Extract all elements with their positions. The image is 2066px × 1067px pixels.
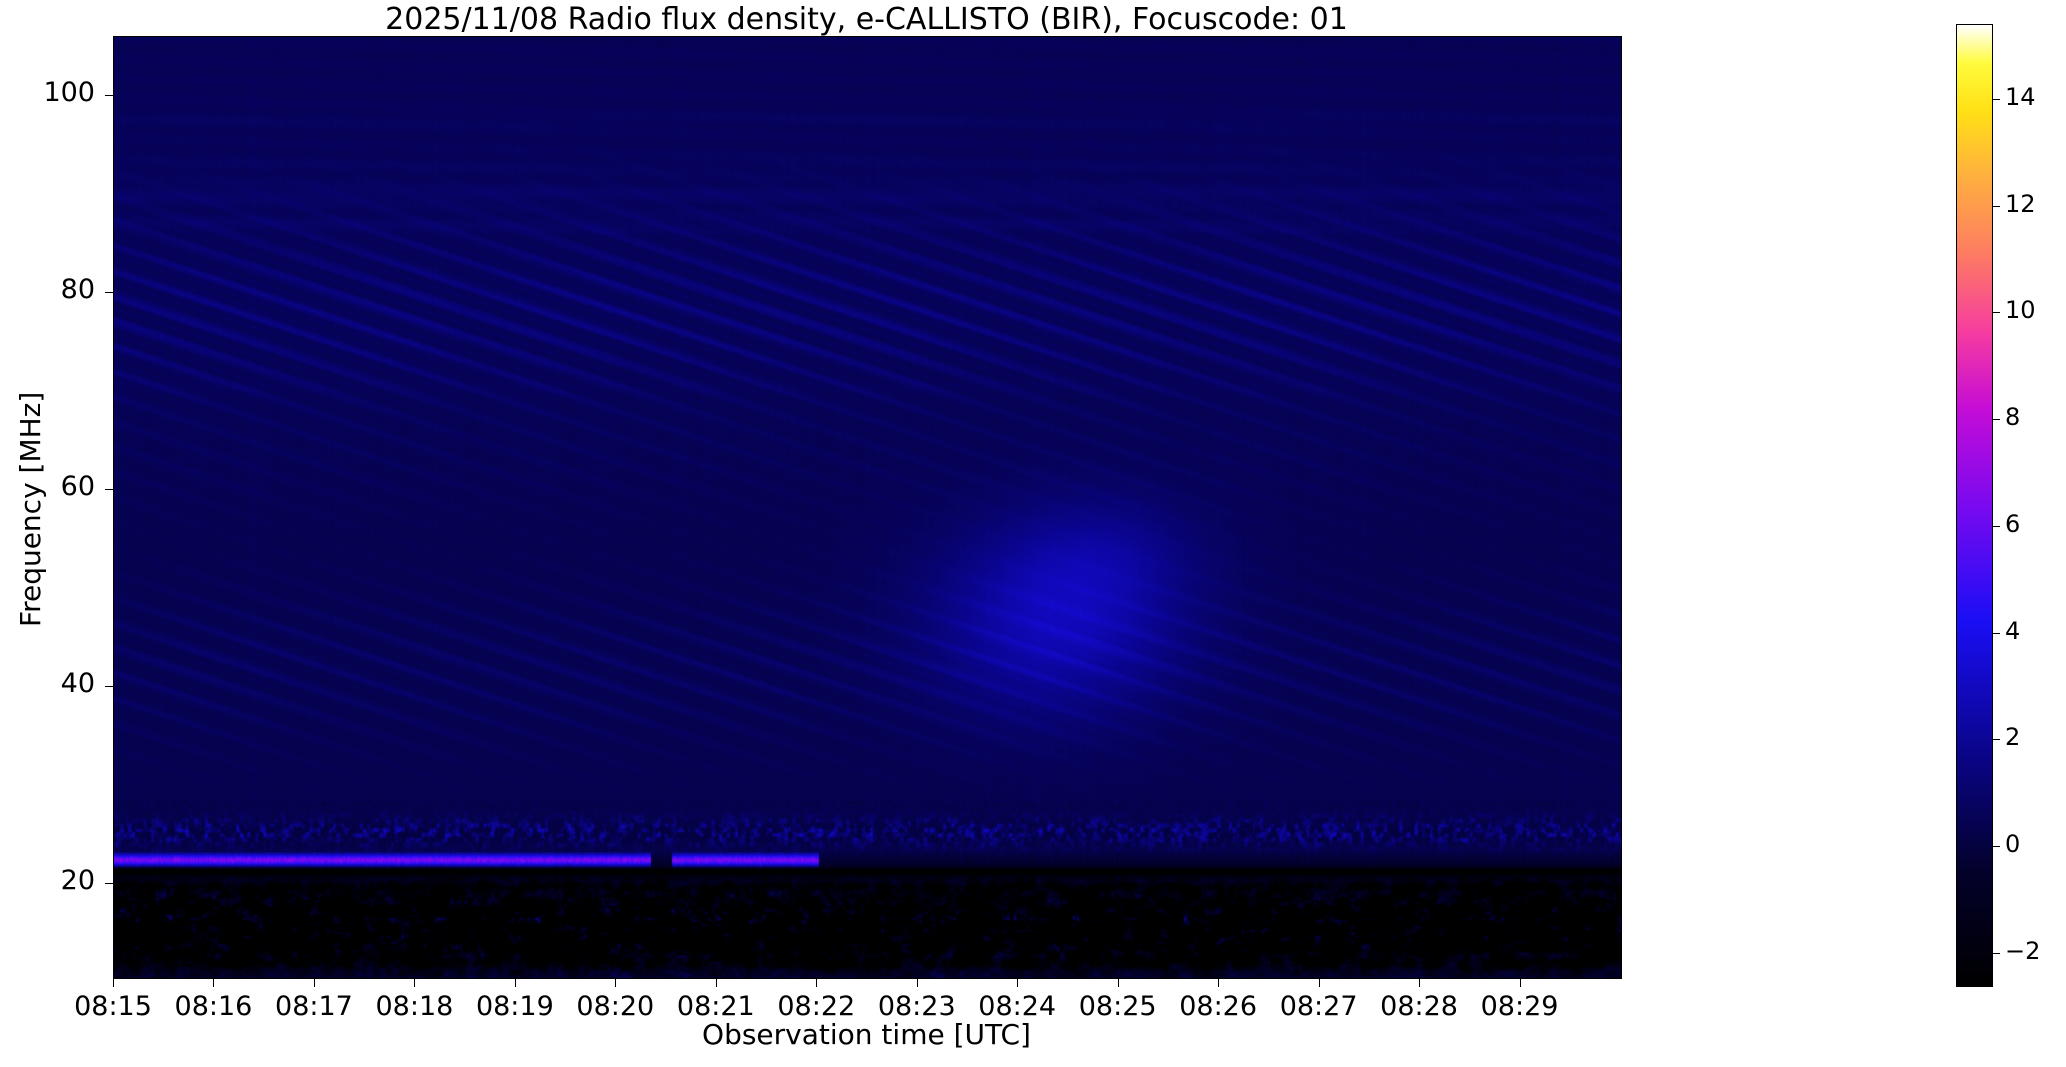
page-title: 2025/11/08 Radio flux density, e-CALLIST… [113,2,1620,37]
x-axis-label: Observation time [UTC] [113,1018,1620,1051]
colorbar-tick-mark [1993,739,2000,740]
y-tick-mark [105,489,113,490]
x-tick-mark [1017,979,1018,987]
y-tick-mark [105,95,113,96]
colorbar-tick-mark [1993,206,2000,207]
y-tick-label: 100 [23,77,95,108]
x-tick-mark [113,979,114,987]
x-tick-mark [716,979,717,987]
colorbar-tick-mark [1993,846,2000,847]
y-tick-mark [105,686,113,687]
x-tick-mark [1520,979,1521,987]
x-tick-mark [1118,979,1119,987]
x-tick-mark [515,979,516,987]
x-tick-mark [1419,979,1420,987]
colorbar-tick-mark [1993,99,2000,100]
colorbar-tick-label: 8 [2005,403,2020,431]
colorbar-tick-label: 6 [2005,510,2020,538]
colorbar-tick-mark [1993,526,2000,527]
spectrogram-plot-area[interactable] [113,36,1622,979]
colorbar-tick-mark [1993,419,2000,420]
y-axis-label: Frequency [MHz] [14,391,47,626]
y-tick-label: 40 [23,668,95,699]
x-tick-mark [213,979,214,987]
x-tick-mark [414,979,415,987]
x-tick-mark [816,979,817,987]
colorbar-tick-label: 10 [2005,296,2036,324]
colorbar[interactable] [1956,24,1993,987]
y-tick-label: 80 [23,274,95,305]
colorbar-tick-label: 12 [2005,190,2036,218]
colorbar-tick-label: 2 [2005,723,2020,751]
spectrogram-image [114,37,1621,978]
colorbar-gradient [1957,25,1992,986]
colorbar-tick-mark [1993,312,2000,313]
colorbar-tick-mark [1993,633,2000,634]
x-tick-mark [314,979,315,987]
colorbar-tick-label: −2 [2005,937,2040,965]
y-tick-mark [105,292,113,293]
colorbar-tick-mark [1993,953,2000,954]
colorbar-tick-label: 14 [2005,83,2036,111]
x-tick-mark [615,979,616,987]
y-tick-mark [105,883,113,884]
colorbar-tick-label: 0 [2005,830,2020,858]
x-tick-mark [1218,979,1219,987]
x-tick-mark [917,979,918,987]
colorbar-tick-label: 4 [2005,617,2020,645]
x-tick-mark [1319,979,1320,987]
y-tick-label: 20 [23,865,95,896]
spectrogram-figure: 2025/11/08 Radio flux density, e-CALLIST… [0,0,2066,1067]
